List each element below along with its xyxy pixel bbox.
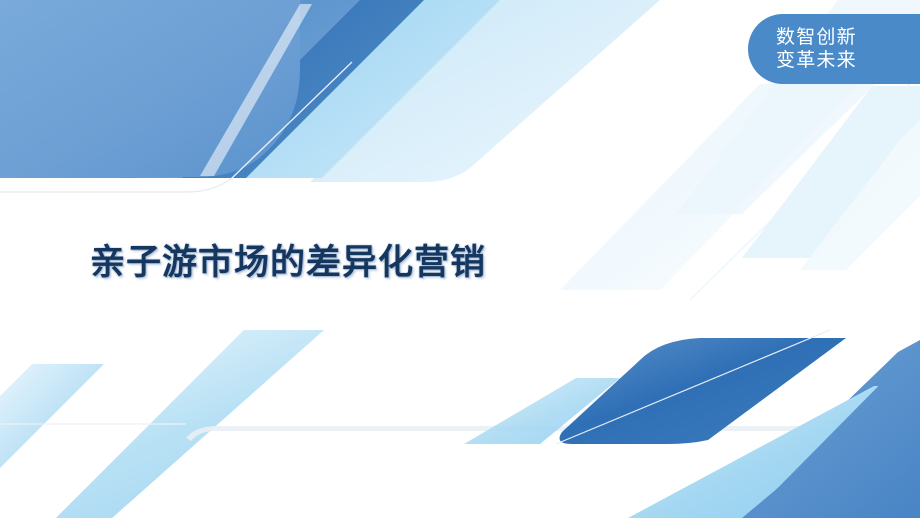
- bottom-left-light-chevron: [0, 310, 120, 516]
- bottom-right-light-triangle: [626, 352, 920, 518]
- bottom-right-blue-triangle-top: [748, 344, 920, 518]
- panel-edge-sliver: [200, 4, 312, 176]
- top-right-hairline: [690, 74, 920, 300]
- top-left-panel-overlay: [0, 0, 300, 177]
- top-left-hairline: [0, 62, 352, 192]
- page-title: 亲子游市场的差异化营销: [90, 234, 486, 285]
- bottom-right-hairline: [556, 330, 830, 444]
- bottom-right-dark-parallelogram: [560, 338, 846, 444]
- badge-line-2: 变革未来: [776, 49, 857, 72]
- top-diagonal-band-light: [246, 0, 500, 178]
- top-diagonal-band-mid: [122, 0, 372, 178]
- top-diagonal-band-dark: [182, 0, 436, 178]
- bottom-right-blue-triangle: [726, 340, 920, 518]
- bottom-center-pale-wedge: [186, 328, 680, 440]
- bottom-left-wide-band: [56, 330, 330, 518]
- badge-line-1: 数智创新: [776, 26, 857, 49]
- bottom-left-band-with-foot: [56, 328, 920, 518]
- top-diagonal-band-pale: [310, 0, 660, 182]
- bottom-right-light-sliver: [464, 378, 620, 444]
- top-left-rounded-panel: [0, 0, 336, 178]
- slide-canvas: 数智创新 变革未来 亲子游市场的差异化营销: [0, 0, 920, 518]
- corner-badge: 数智创新 变革未来: [748, 14, 920, 84]
